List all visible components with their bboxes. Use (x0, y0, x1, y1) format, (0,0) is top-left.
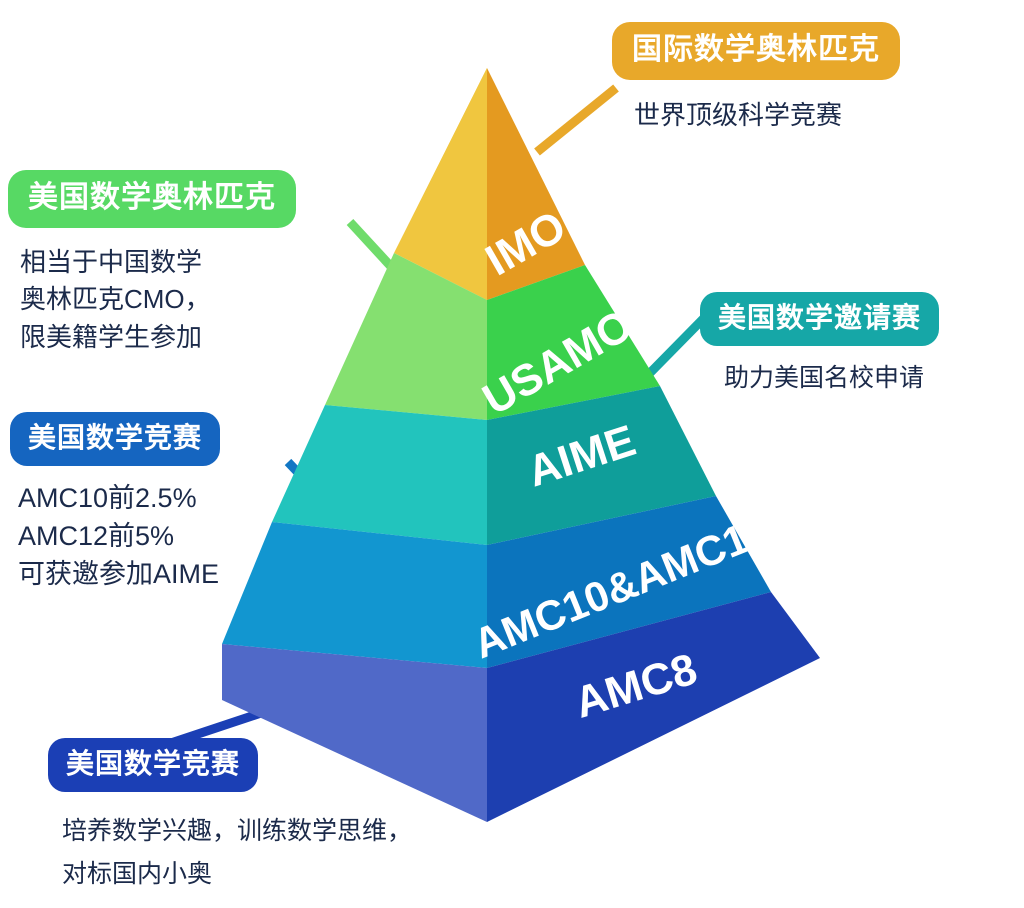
callout-amc1012-description-line-3: 可获邀参加AIME (18, 556, 220, 594)
callout-amc8-description-line-2: 对标国内小奥 (62, 853, 412, 896)
infographic-canvas: IMO USAMO AIME AMC10&AMC12 AMC8 国际数学奥 (0, 0, 1024, 908)
callout-usamo-description-line-1: 相当于中国数学 (20, 244, 296, 281)
callout-aime-description-line-1: 助力美国名校申请 (724, 362, 939, 396)
callout-aime-description: 助力美国名校申请 (724, 362, 939, 396)
callout-usamo-description-line-2: 奥林匹克CMO， (20, 281, 296, 318)
callout-imo-pill[interactable]: 国际数学奥林匹克 (612, 22, 900, 80)
callout-amc1012-description: AMC10前2.5% AMC12前5% 可获邀参加AIME (18, 480, 220, 593)
callout-imo-description: 世界顶级科学竞赛 (634, 98, 900, 133)
callout-amc8[interactable]: 美国数学竞赛 培养数学兴趣，训练数学思维， 对标国内小奥 (48, 738, 412, 895)
callout-usamo-pill[interactable]: 美国数学奥林匹克 (8, 170, 296, 228)
callout-aime-pill[interactable]: 美国数学邀请赛 (700, 292, 939, 346)
connector-line-aime (645, 318, 704, 378)
callout-amc1012-pill[interactable]: 美国数学竞赛 (10, 412, 220, 466)
callout-amc8-pill[interactable]: 美国数学竞赛 (48, 738, 258, 792)
callout-aime[interactable]: 美国数学邀请赛 助力美国名校申请 (700, 292, 939, 396)
callout-imo-description-line-1: 世界顶级科学竞赛 (634, 98, 900, 133)
callout-amc8-description: 培养数学兴趣，训练数学思维， 对标国内小奥 (62, 810, 412, 895)
callout-usamo[interactable]: 美国数学奥林匹克 相当于中国数学 奥林匹克CMO， 限美籍学生参加 (8, 170, 296, 356)
callout-usamo-description: 相当于中国数学 奥林匹克CMO， 限美籍学生参加 (20, 244, 296, 356)
callout-amc1012[interactable]: 美国数学竞赛 AMC10前2.5% AMC12前5% 可获邀参加AIME (10, 412, 220, 593)
callout-usamo-description-line-3: 限美籍学生参加 (20, 319, 296, 356)
callout-imo[interactable]: 国际数学奥林匹克 世界顶级科学竞赛 (612, 22, 900, 133)
pyramid-tier-imo: IMO (394, 68, 585, 300)
callout-amc1012-description-line-2: AMC12前5% (18, 518, 220, 556)
connector-line-imo (537, 88, 616, 152)
callout-amc8-description-line-1: 培养数学兴趣，训练数学思维， (62, 810, 412, 853)
tier-amc1012-left-face (222, 522, 487, 668)
callout-amc1012-description-line-1: AMC10前2.5% (18, 480, 220, 518)
tier-aime-left-face (272, 405, 487, 545)
